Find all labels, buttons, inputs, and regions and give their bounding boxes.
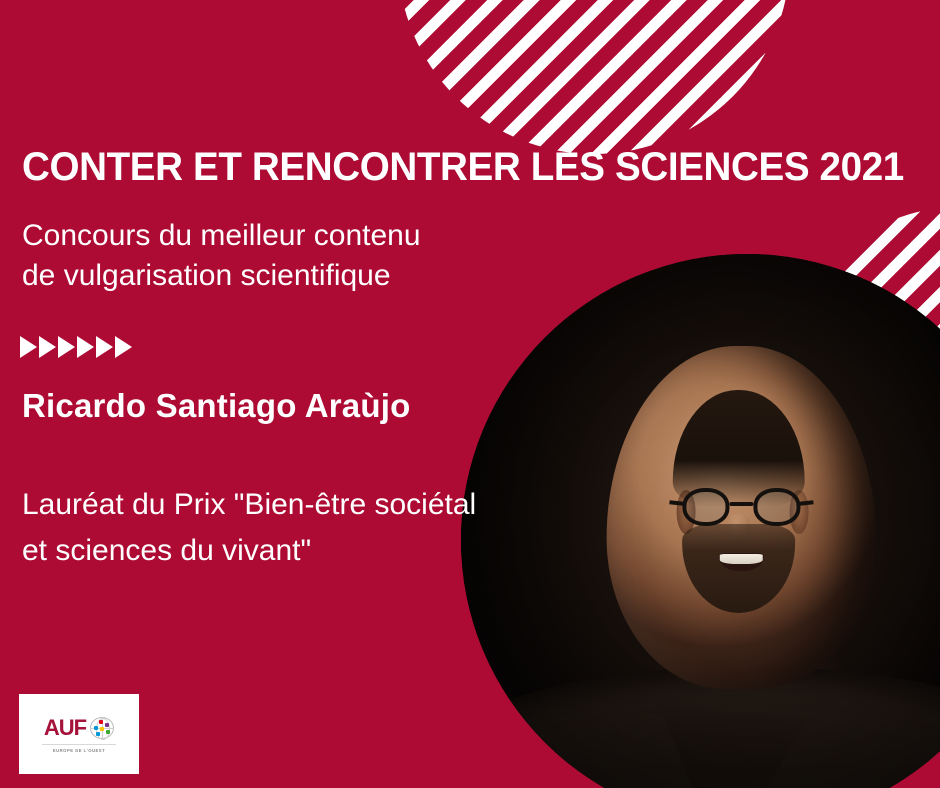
triangle-arrow-icon <box>39 336 56 358</box>
striped-circle-top-decoration <box>398 0 790 154</box>
event-subtitle-line-2: de vulgarisation scientifique <box>22 256 542 296</box>
poster-canvas: CONTER ET RENCONTRER LES SCIENCES 2021 C… <box>0 0 940 788</box>
globe-dot-blue-2 <box>96 732 100 736</box>
prize-description: Lauréat du Prix "Bien-être sociétal et s… <box>22 482 482 574</box>
globe-dot-blue <box>94 726 98 730</box>
laureate-name: Ricardo Santiago Araùjo <box>22 385 410 427</box>
laureate-portrait-photo <box>461 254 940 788</box>
triangle-arrow-icon <box>77 336 94 358</box>
triangle-arrow-icon <box>58 336 75 358</box>
auf-logo-row: AUF <box>44 715 114 741</box>
portrait-vignette <box>461 254 940 788</box>
globe-dot-red <box>99 720 103 724</box>
auf-region-caption: EUROPE DE L'OUEST <box>42 744 116 753</box>
triangle-arrow-icon <box>115 336 132 358</box>
event-subtitle: Concours du meilleur contenu de vulgaris… <box>22 216 542 296</box>
triangle-arrow-icon <box>20 336 37 358</box>
globe-icon <box>90 717 114 739</box>
event-title: CONTER ET RENCONTRER LES SCIENCES 2021 <box>22 144 871 190</box>
globe-dot-green <box>106 730 110 734</box>
event-subtitle-line-1: Concours du meilleur contenu <box>22 216 542 256</box>
auf-logo: AUF EUROPE DE L'OUEST <box>19 694 139 774</box>
globe-dot-yellow <box>100 727 104 731</box>
triangle-arrow-icon <box>96 336 113 358</box>
arrow-separator <box>20 336 132 358</box>
globe-dot-purple <box>105 723 109 727</box>
auf-wordmark: AUF <box>44 715 86 741</box>
